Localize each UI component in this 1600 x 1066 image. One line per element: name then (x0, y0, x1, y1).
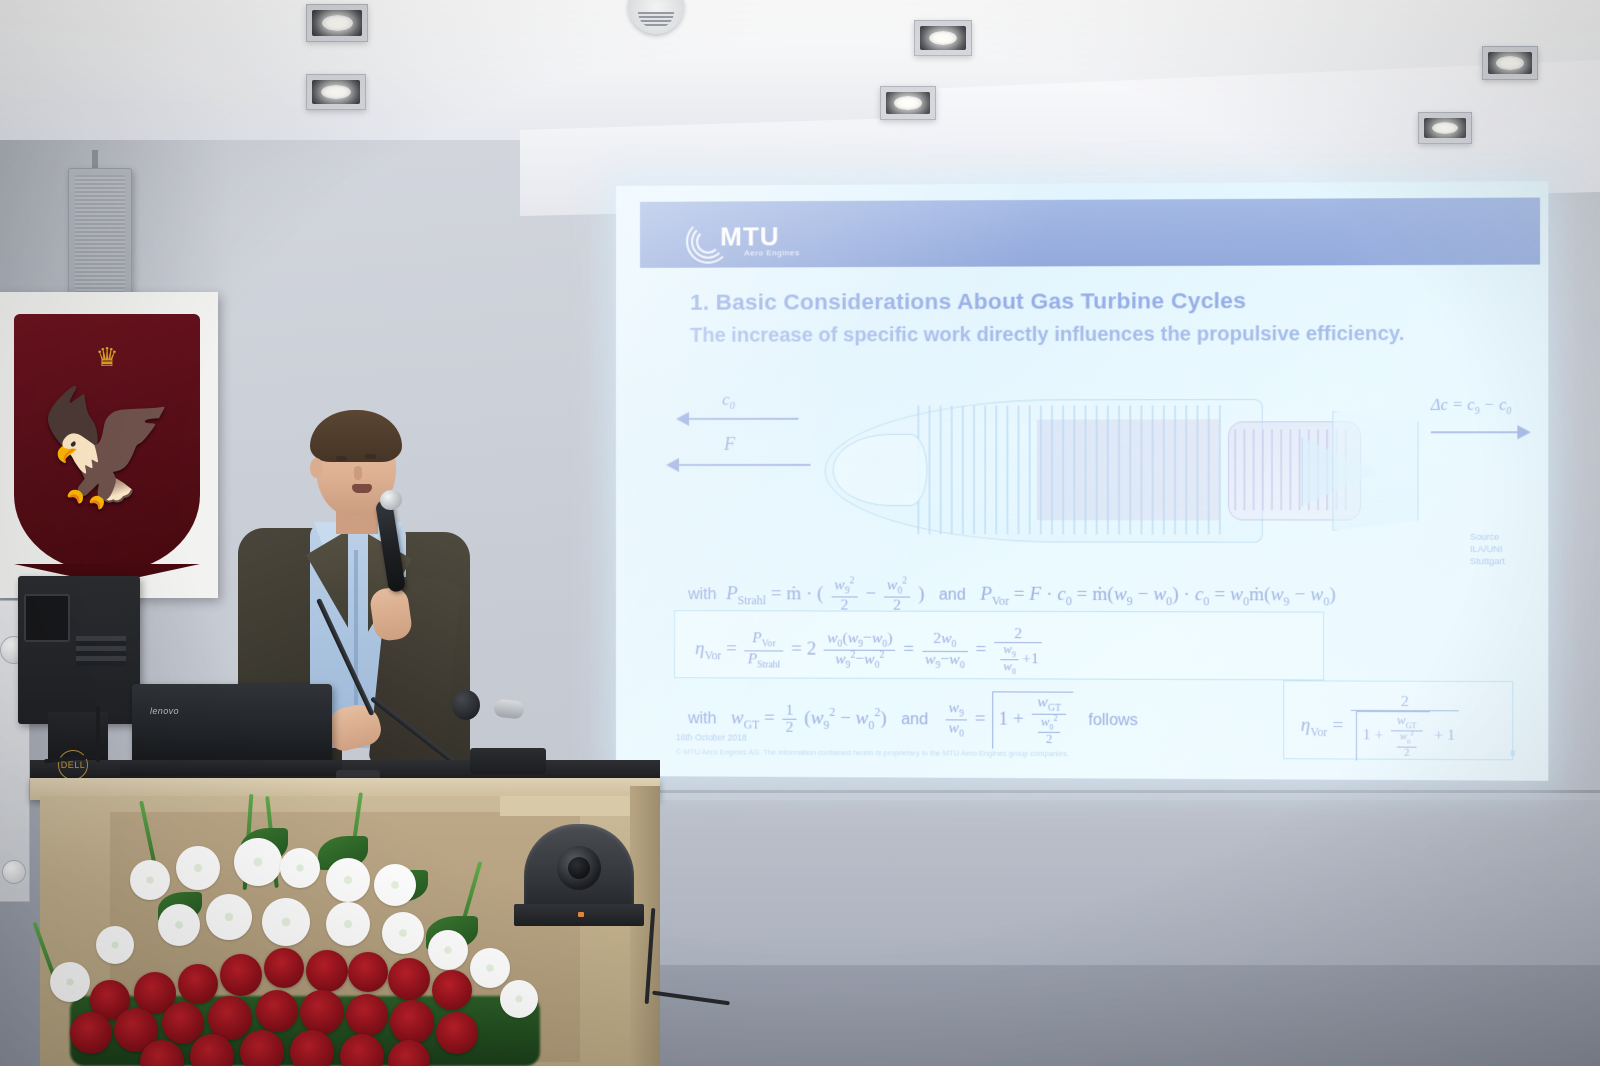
c0-arrow-head-icon (676, 412, 689, 426)
eagle-icon: 🦅 (37, 392, 176, 504)
screen-surface: MTU Aero Engines 1. Basic Considerations… (616, 181, 1548, 781)
presentation-slide: MTU Aero Engines 1. Basic Considerations… (628, 193, 1540, 772)
equation-row-3: with wGT = 12 (w92 − w02) and w9w0 = 1 +… (688, 690, 1138, 749)
equation-eta-vor-final: ηVor = 21 + wGTw022 + 1 (1301, 694, 1462, 761)
ceiling-spotlight-icon (306, 74, 366, 110)
ceiling-spotlight-icon (1482, 46, 1538, 80)
source-note: Source ILA/UNI Stuttgart (1470, 531, 1532, 568)
ceiling-spotlight-icon (914, 20, 972, 56)
slide-header-band: MTU Aero Engines (640, 197, 1540, 267)
wall-speaker (68, 168, 132, 302)
c0-arrow-line (688, 418, 798, 420)
mic-boom-joint (452, 690, 480, 720)
boom-mic-head-icon (493, 698, 525, 719)
crown-icon: ♛ (95, 344, 118, 370)
equation-eta-vor: ηVor = PVorPStrahl = 2 w0(w9−w0)w92−w02 … (695, 625, 1045, 676)
equation-box-2: ηVor = 21 + wGTw022 + 1 (1283, 680, 1513, 760)
slide-page-number: 8 (1510, 748, 1515, 758)
ceiling-spotlight-icon (1418, 112, 1472, 144)
thrust-arrow-line (678, 464, 811, 466)
flower-arrangement (30, 800, 590, 1066)
podium-side (630, 786, 660, 1066)
slide-date: 16th October 2018 (676, 732, 747, 742)
slide-copyright: © MTU Aero Engines AG. The information c… (676, 747, 1069, 758)
lenovo-laptop (132, 684, 332, 764)
mtu-tagline: Aero Engines (744, 248, 799, 257)
lenovo-logo: lenovo (150, 706, 179, 716)
polish-coat-of-arms: ♛ 🦅 (0, 292, 218, 598)
thrust-label: F (724, 434, 735, 455)
laptop-base (120, 760, 342, 776)
dell-monitor-rear (18, 576, 140, 724)
engine-diagram: c0 F (668, 382, 1532, 555)
lecture-hall-photo: ♛ 🦅 MTU Aero Engines 1. Basic Consid (0, 0, 1600, 1066)
slide-title: 1. Basic Considerations About Gas Turbin… (690, 288, 1246, 316)
delta-c-arrow-line (1431, 431, 1520, 433)
mtu-logo: MTU Aero Engines (686, 217, 817, 264)
ceiling-spotlight-icon (306, 4, 368, 42)
desk-device (470, 748, 546, 774)
turbofan-cross-section (825, 385, 1417, 553)
slide-subtitle: The increase of specific work directly i… (690, 322, 1441, 349)
presenter-hair (310, 410, 402, 462)
floor (640, 965, 1600, 1066)
c0-label: c0 (722, 390, 735, 412)
ceiling-spotlight-icon (880, 86, 936, 120)
projection-screen: MTU Aero Engines 1. Basic Considerations… (616, 181, 1548, 781)
rack-knob (2, 860, 26, 884)
emblem-shield: ♛ 🦅 (14, 314, 200, 572)
delta-c-label: Δc = c9 − c0 (1431, 397, 1512, 418)
thrust-arrow-head-icon (666, 458, 679, 472)
delta-c-arrow-head-icon (1517, 425, 1530, 439)
equation-box-1: ηVor = PVorPStrahl = 2 w0(w9−w0)w92−w02 … (674, 610, 1324, 680)
